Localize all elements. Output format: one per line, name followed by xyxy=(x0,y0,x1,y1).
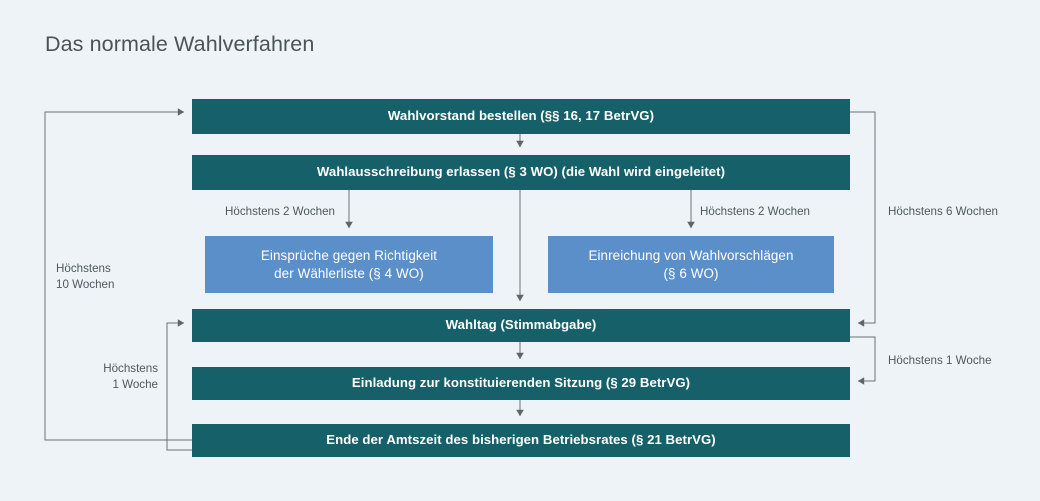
node-einladung[interactable]: Einladung zur konstituierenden Sitzung (… xyxy=(192,367,850,400)
node-ende-label: Ende der Amtszeit des bisherigen Betrieb… xyxy=(326,432,715,449)
diagram-canvas: Das normale Wahlverfahren xyxy=(0,0,1040,501)
node-wahltag-label: Wahltag (Stimmabgabe) xyxy=(446,317,597,334)
node-wahlausschreibung-label: Wahlausschreibung erlassen (§ 3 WO) (die… xyxy=(317,164,725,181)
node-einreichung-label: Einreichung von Wahlvorschlägen (§ 6 WO) xyxy=(588,247,793,281)
node-wahlvorstand-label: Wahlvorstand bestellen (§§ 16, 17 BetrVG… xyxy=(388,108,654,125)
node-einreichung[interactable]: Einreichung von Wahlvorschlägen (§ 6 WO) xyxy=(548,236,834,293)
node-ende[interactable]: Ende der Amtszeit des bisherigen Betrieb… xyxy=(192,424,850,457)
node-wahlvorstand[interactable]: Wahlvorstand bestellen (§§ 16, 17 BetrVG… xyxy=(192,99,850,134)
connector-ende-to-wahltag xyxy=(167,323,192,450)
edge-label-right-one-week: Höchstens 1 Woche xyxy=(888,353,992,369)
edge-label-right-two-weeks: Höchstens 2 Wochen xyxy=(700,204,810,220)
node-einladung-label: Einladung zur konstituierenden Sitzung (… xyxy=(352,375,690,392)
edge-label-inner-left-one-week: Höchstens 1 Woche xyxy=(60,361,158,394)
node-wahltag[interactable]: Wahltag (Stimmabgabe) xyxy=(192,309,850,342)
edge-label-outer-left-ten-weeks: Höchstens 10 Wochen xyxy=(56,261,114,294)
node-einspruche[interactable]: Einsprüche gegen Richtigkeit der Wählerl… xyxy=(205,236,493,293)
node-einspruche-label: Einsprüche gegen Richtigkeit der Wählerl… xyxy=(261,247,437,281)
connector-wahlvorstand-to-wahltag xyxy=(850,112,875,323)
page-title: Das normale Wahlverfahren xyxy=(45,32,314,57)
edge-label-right-six-weeks: Höchstens 6 Wochen xyxy=(888,204,998,220)
node-wahlausschreibung[interactable]: Wahlausschreibung erlassen (§ 3 WO) (die… xyxy=(192,155,850,190)
edge-label-left-two-weeks: Höchstens 2 Wochen xyxy=(225,204,335,220)
connector-wahltag-to-einladung-right xyxy=(850,337,875,381)
